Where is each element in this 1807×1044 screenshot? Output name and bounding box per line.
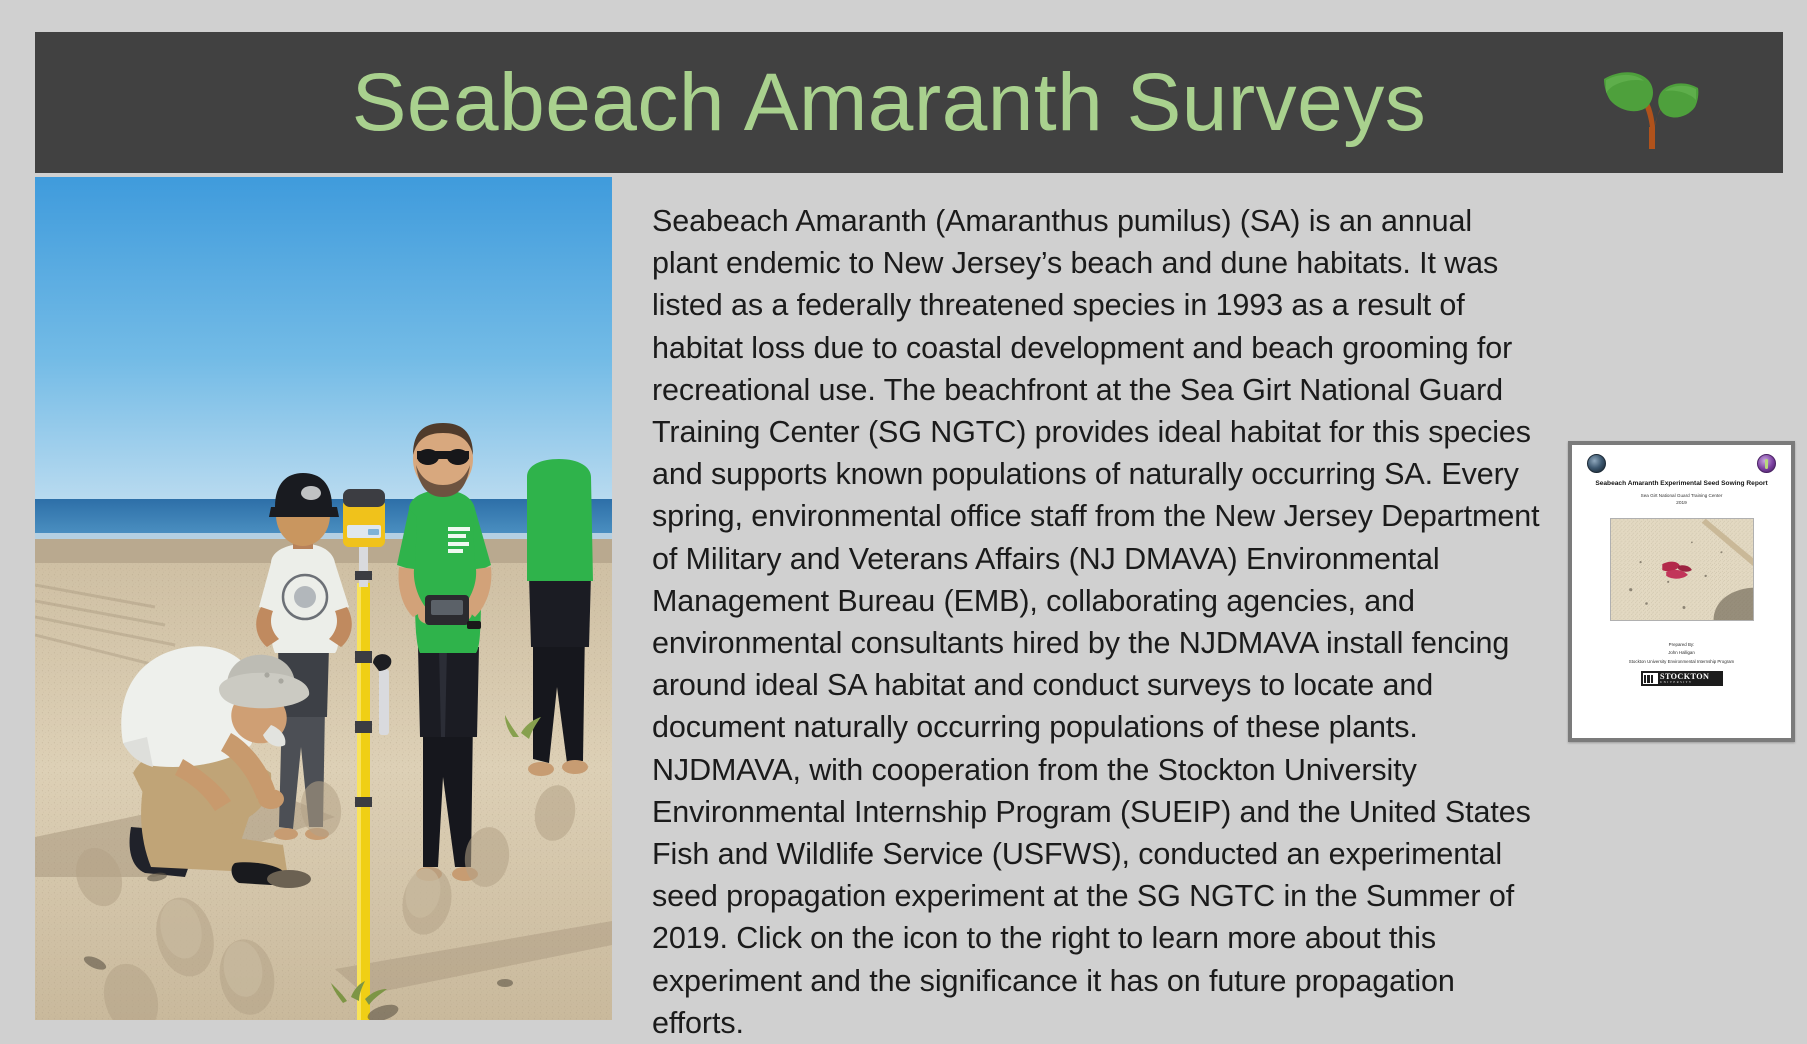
document-seals — [1581, 451, 1782, 473]
njdmava-seal-icon — [1587, 454, 1606, 473]
columns-icon — [1643, 673, 1658, 684]
report-credits: Prepared By: John Halligan Stockton Univ… — [1581, 641, 1782, 665]
beach-survey-photo — [35, 177, 612, 1020]
description-paragraph: Seabeach Amaranth (Amaranthus pumilus) (… — [652, 200, 1542, 1044]
report-cover-photo — [1610, 518, 1754, 621]
stockton-wordmark: STOCKTON UNIVERSITY — [1660, 673, 1709, 684]
stockton-logo-subtext: UNIVERSITY — [1660, 681, 1709, 684]
report-subtitle: Sea Girt National Guard Training Center — [1581, 493, 1782, 500]
report-thumbnail-link[interactable]: Seabeach Amaranth Experimental Seed Sowi… — [1568, 441, 1795, 742]
report-author: John Halligan — [1581, 649, 1782, 657]
header-bar: Seabeach Amaranth Surveys — [35, 32, 1783, 173]
report-title: Seabeach Amaranth Experimental Seed Sowi… — [1581, 480, 1782, 488]
prepared-by-label: Prepared By: — [1581, 641, 1782, 649]
stockton-university-logo: STOCKTON UNIVERSITY — [1641, 671, 1723, 686]
seedling-icon — [1597, 57, 1705, 149]
report-affiliation: Stockton University Environmental Intern… — [1581, 658, 1782, 666]
page-title: Seabeach Amaranth Surveys — [352, 62, 1467, 144]
report-year: 2019 — [1581, 500, 1782, 507]
usfws-seal-icon — [1757, 454, 1776, 473]
